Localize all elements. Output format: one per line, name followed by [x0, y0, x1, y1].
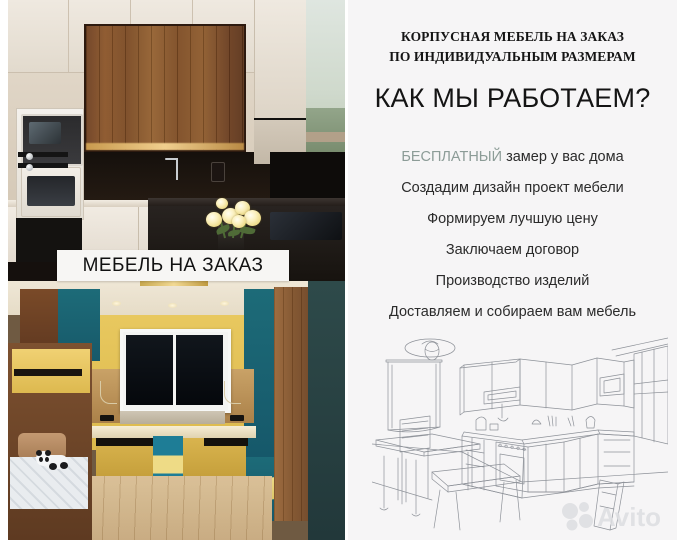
step-item-5: Производство изделий: [348, 266, 677, 297]
step-highlight: БЕСПЛАТНЫЙ: [401, 149, 502, 165]
power-socket: [100, 415, 114, 421]
flower-bouquet: [204, 196, 262, 238]
ceiling-spotlight: [220, 301, 229, 306]
panda-eye: [45, 457, 49, 462]
step-item-6: Доставляем и собираем вам мебель: [348, 297, 677, 328]
watermark-text: Avito: [597, 502, 661, 532]
step-item-3: Формируем лучшую цену: [348, 204, 677, 235]
step-text: замер у вас дома: [502, 149, 624, 165]
panda-ear: [36, 450, 42, 456]
ceiling-light-strip: [140, 281, 208, 286]
step-text: Заключаем договор: [446, 242, 579, 258]
dark-teal-wall: [308, 281, 345, 540]
panda-paw: [49, 463, 57, 470]
window-pane: [176, 335, 223, 405]
window-sill-panel: [120, 411, 225, 424]
badge-label: МЕБЕЛЬ НА ЗАКАЗ: [83, 255, 264, 277]
ceiling-spotlight: [168, 303, 177, 308]
induction-hob: [270, 212, 342, 240]
cabinet-seam: [68, 0, 69, 72]
step-text: Создадим дизайн проект мебели: [401, 180, 624, 196]
window-deck: [306, 132, 345, 142]
step-text: Формируем лучшую цену: [427, 211, 598, 227]
dark-glass-wall: [270, 152, 345, 200]
advertisement-image: МЕБЕЛЬ НА ЗАКАЗ КОРПУСНАЯ МЕБЕЛЬ НА ЗАКА…: [0, 0, 677, 540]
range-hood-column: [254, 0, 307, 120]
bunk-bed-vent-strip: [14, 369, 82, 376]
mebel-na-zakaz-badge: МЕБЕЛЬ НА ЗАКАЗ: [57, 250, 289, 281]
kids-room-photo: [8, 281, 345, 540]
photo-column: МЕБЕЛЬ НА ЗАКАЗ: [8, 0, 345, 540]
eyebrow-text: КОРПУСНАЯ МЕБЕЛЬ НА ЗАКАЗ ПО ИНДИВИДУАЛЬ…: [348, 27, 677, 67]
cable: [100, 381, 117, 404]
wall-oven: [21, 167, 81, 217]
faucet-icon: [176, 158, 178, 180]
avito-watermark: Avito: [559, 498, 671, 532]
eyebrow-line-2: ПО ИНДИВИДУАЛЬНЫМ РАЗМЕРАМ: [348, 47, 677, 67]
steps-list: БЕСПЛАТНЫЙ замер у вас домаСоздадим диза…: [348, 142, 677, 328]
room-window: [120, 329, 231, 413]
oven-knob: [26, 153, 33, 160]
step-item-4: Заключаем договор: [348, 235, 677, 266]
step-item-1: БЕСПЛАТНЫЙ замер у вас дома: [348, 142, 677, 173]
step-text: Доставляем и собираем вам мебель: [389, 304, 636, 320]
wood-panel-backsplash: [86, 26, 244, 150]
under-cabinet-light: [86, 143, 244, 150]
ceiling-spotlight: [112, 301, 121, 306]
oven-knob: [26, 164, 33, 171]
cable: [224, 381, 241, 404]
step-text: Производство изделий: [436, 273, 590, 289]
desk-shadow-gap: [96, 438, 156, 446]
kettle: [211, 162, 225, 182]
window-pane: [126, 335, 173, 405]
panda-ear: [45, 450, 51, 456]
power-socket: [230, 415, 244, 421]
panda-eye: [39, 457, 43, 462]
wood-floor: [72, 476, 272, 540]
page-title: КАК МЫ РАБОТАЕМ?: [348, 83, 677, 114]
modern-kitchen-photo: [8, 0, 345, 281]
panda-toy: [36, 451, 70, 471]
desk-shadow-gap: [204, 438, 248, 446]
step-item-2: Создадим дизайн проект мебели: [348, 173, 677, 204]
eyebrow-line-1: КОРПУСНАЯ МЕБЕЛЬ НА ЗАКАЗ: [348, 27, 677, 47]
panda-paw: [60, 462, 68, 469]
